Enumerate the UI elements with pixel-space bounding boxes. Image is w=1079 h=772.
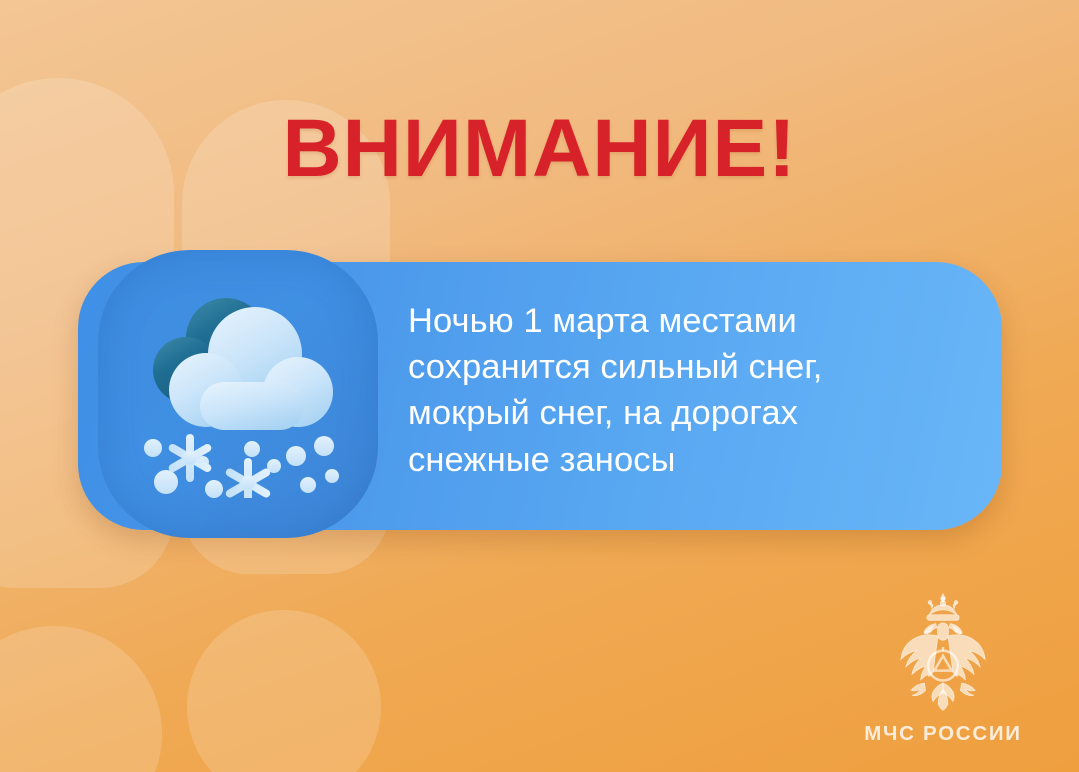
alert-card: Ночью 1 марта местами сохранится сильный…: [78, 262, 1002, 530]
page-title: ВНИМАНИЕ!: [0, 108, 1079, 190]
snow-cloud-icon: [128, 286, 350, 498]
watermark-dot: [187, 610, 381, 772]
emercom-eagle-emblem-icon: [881, 590, 1005, 714]
weather-icon-panel: [98, 250, 378, 538]
watermark-dot: [0, 626, 162, 772]
agency-branding: МЧС РОССИИ: [855, 590, 1031, 746]
snowfall-shape: [144, 434, 339, 498]
weather-alert-poster: ВНИМАНИЕ!: [0, 0, 1079, 772]
alert-message: Ночью 1 марта местами сохранится сильный…: [408, 298, 958, 483]
agency-name-label: МЧС РОССИИ: [855, 722, 1031, 746]
